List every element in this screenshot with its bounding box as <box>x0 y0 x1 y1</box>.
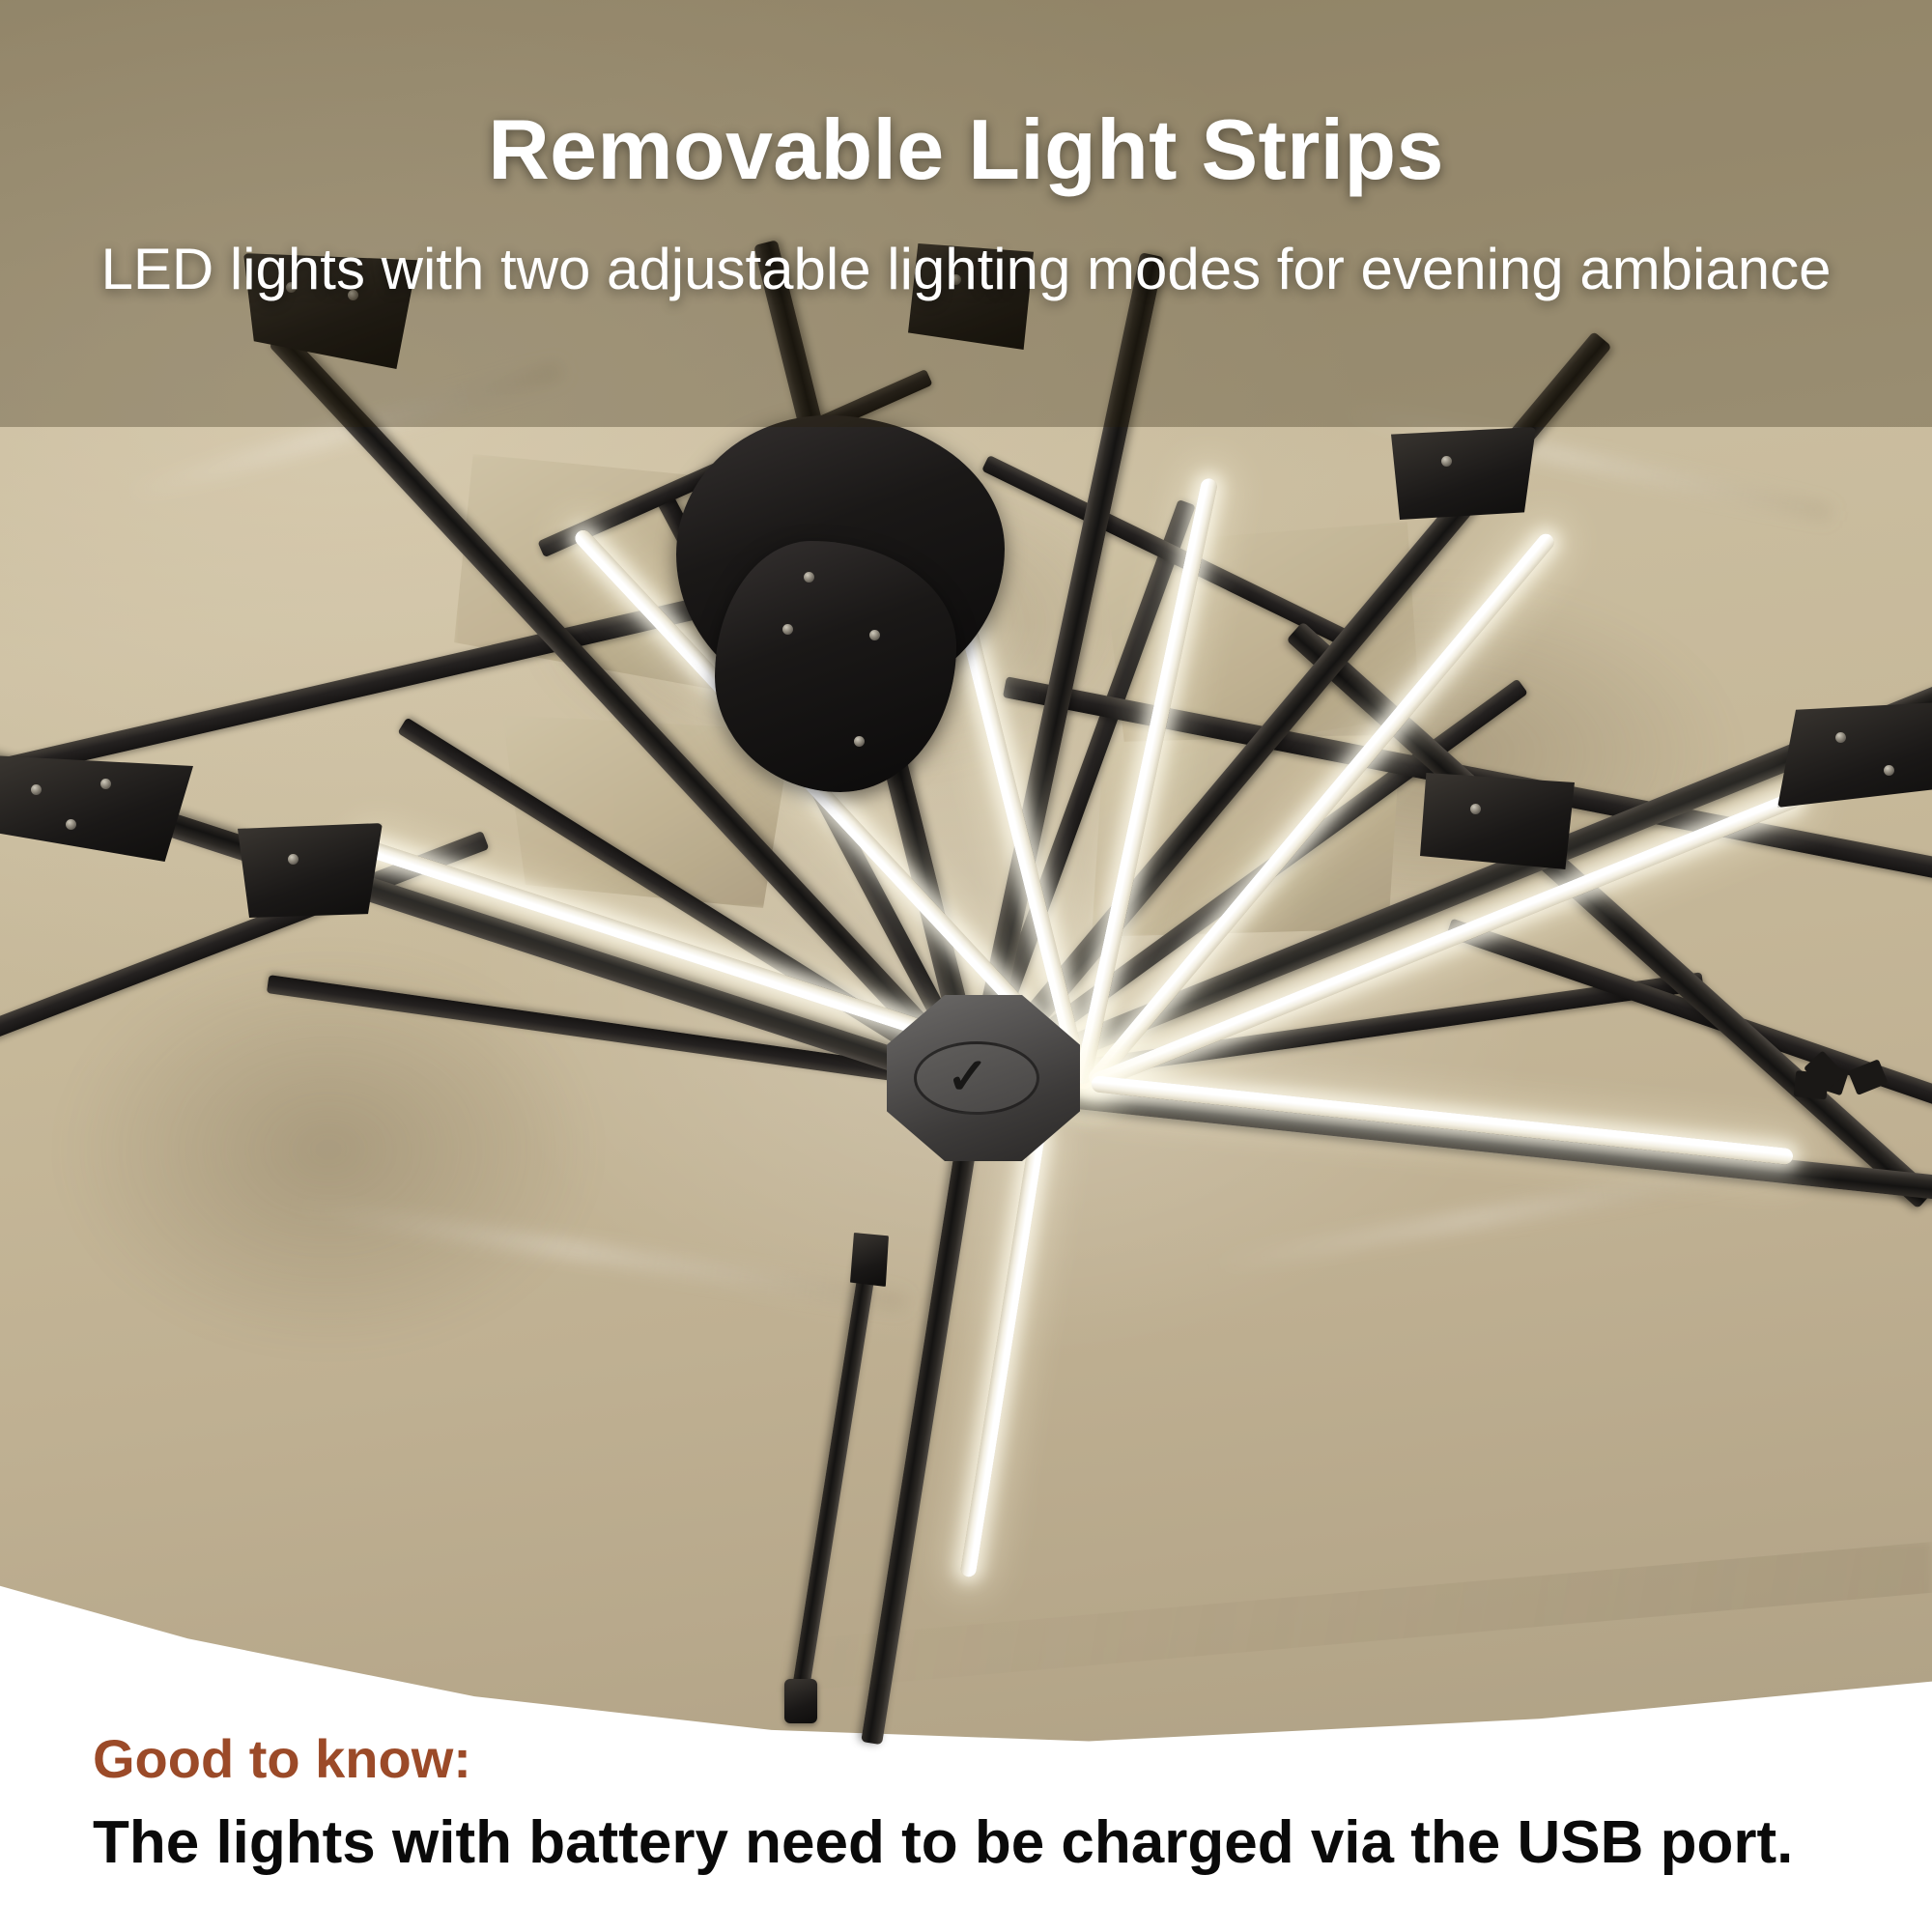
rib-bracket <box>238 823 383 918</box>
rib-bracket <box>1391 427 1536 520</box>
hub-checkmark-icon: ✓ <box>947 1049 989 1105</box>
top-hub-rivet <box>854 736 865 747</box>
note-body: The lights with battery need to be charg… <box>93 1808 1793 1877</box>
bracket-rivet <box>100 779 111 789</box>
pole-mid-clip <box>850 1233 889 1287</box>
rib-bracket <box>1420 773 1575 869</box>
page-subtitle: LED lights with two adjustable lighting … <box>0 236 1932 302</box>
bracket-rivet <box>1835 732 1846 743</box>
top-hub-rivet <box>804 572 814 582</box>
bracket-rivet <box>1884 765 1894 776</box>
product-feature-image: ✓ Removable Light Strips LED lights with… <box>0 0 1932 1932</box>
bracket-rivet <box>1441 456 1452 467</box>
footer-note: Good to know: The lights with battery ne… <box>0 1768 1932 1932</box>
led-strip-end-cap <box>1794 1070 1830 1099</box>
bracket-rivet <box>288 854 298 865</box>
top-hub-rivet <box>782 624 793 635</box>
banner-overlay-scrim: Removable Light Strips LED lights with t… <box>0 0 1932 427</box>
bracket-rivet <box>66 819 76 830</box>
page-title: Removable Light Strips <box>0 100 1932 199</box>
top-hub-rivet <box>869 630 880 640</box>
bracket-rivet <box>31 784 42 795</box>
bracket-rivet <box>1470 804 1481 814</box>
canopy-shading <box>58 947 599 1352</box>
rib-bracket <box>1777 701 1932 808</box>
note-label: Good to know: <box>93 1727 471 1790</box>
